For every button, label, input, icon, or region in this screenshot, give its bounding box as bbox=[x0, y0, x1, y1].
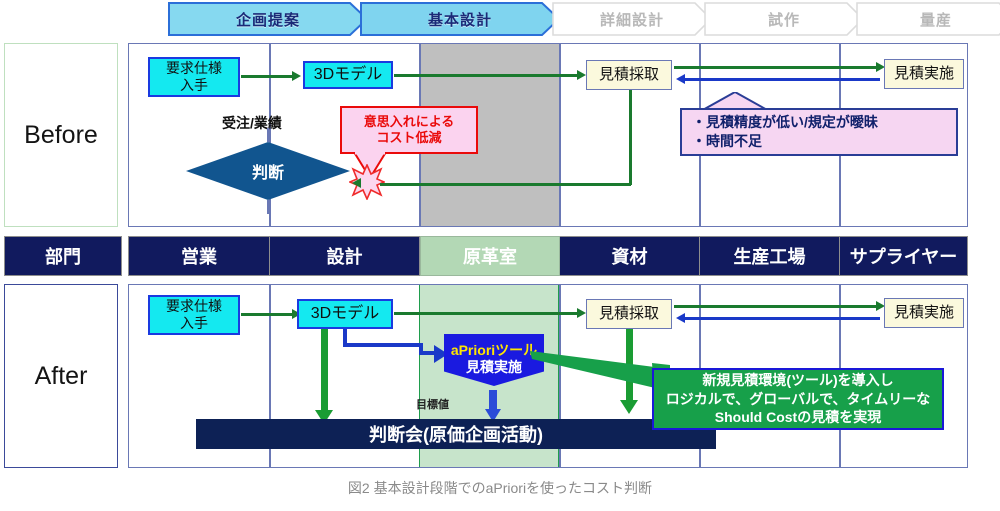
chevron-shape-icon bbox=[856, 2, 1000, 36]
phase-chevron-bar: 企画提案 基本設計 詳細設計 試作 量産 bbox=[168, 2, 968, 36]
after-benefit-line1: 新規見積環境(ツール)を導入し bbox=[702, 371, 893, 390]
chevron-shape-icon bbox=[704, 2, 864, 36]
phase-chevron-kikaku[interactable]: 企画提案 bbox=[168, 2, 368, 36]
after-benefit-line3: Should Costの見積を実現 bbox=[715, 408, 881, 427]
chevron-shape-icon bbox=[360, 2, 560, 36]
department-cell-seisankojo[interactable]: 生産工場 bbox=[700, 236, 840, 276]
before-arrow-quote-down bbox=[629, 89, 632, 185]
before-quote-collect-label: 見積採取 bbox=[599, 66, 659, 84]
after-benefit-line2: ロジカルで、グローバルで、タイムリーな bbox=[666, 390, 930, 409]
before-3d-model-box[interactable]: 3Dモデル bbox=[303, 61, 393, 89]
after-arrow-req-to-model bbox=[241, 313, 294, 316]
after-benefit-callout[interactable]: 新規見積環境(ツール)を導入し ロジカルで、グローバルで、タイムリーな Shou… bbox=[652, 368, 944, 430]
before-row-label: Before bbox=[4, 43, 118, 227]
before-requirements-box[interactable]: 要求仕様 入手 bbox=[148, 57, 240, 97]
diagram-root: 企画提案 基本設計 詳細設計 試作 量産 bbox=[0, 0, 1000, 511]
arrow-head-icon bbox=[676, 74, 685, 84]
before-issue-line1: ・見積精度が低い/規定が曖昧 bbox=[692, 113, 956, 132]
after-arrow-model-to-quote bbox=[394, 312, 580, 315]
after-label-text: After bbox=[35, 362, 88, 391]
before-requirements-line2: 入手 bbox=[180, 77, 208, 94]
department-label: 営業 bbox=[181, 243, 217, 269]
before-order-label: 受注/業績 bbox=[222, 113, 282, 133]
before-arrow-req-to-model bbox=[241, 75, 294, 78]
phase-chevron-kihonsekkei[interactable]: 基本設計 bbox=[360, 2, 560, 36]
chevron-shape-icon bbox=[168, 2, 368, 36]
department-label: 原革室 bbox=[463, 243, 517, 269]
after-requirements-line1: 要求仕様 bbox=[166, 298, 222, 315]
figure-caption: 図2 基本設計段階でのaPrioriを使ったコスト判断 bbox=[0, 478, 1000, 498]
department-cell-genkakushitsu[interactable]: 原革室 bbox=[420, 236, 560, 276]
before-diamond-bottom-connector bbox=[267, 200, 269, 214]
arrow-head-icon bbox=[352, 178, 361, 188]
after-arrow-to-supplier bbox=[674, 305, 880, 308]
before-arrow-model-to-quote bbox=[394, 74, 580, 77]
after-decision-meeting-bar[interactable]: 判断会(原価企画活動) bbox=[196, 419, 716, 449]
phase-chevron-ryousan[interactable]: 量産 bbox=[856, 2, 1000, 36]
before-requirements-line1: 要求仕様 bbox=[166, 60, 222, 77]
chevron-shape-icon bbox=[552, 2, 712, 36]
department-label: 設計 bbox=[327, 243, 363, 269]
arrow-head-icon bbox=[577, 308, 586, 318]
arrow-head-icon bbox=[577, 70, 586, 80]
before-arrow-quote-back bbox=[380, 183, 631, 186]
after-quote-collect-label: 見積採取 bbox=[599, 305, 659, 323]
department-label: サプライヤー bbox=[850, 243, 957, 269]
before-decision-label: 判断 bbox=[252, 159, 284, 183]
after-quote-execute-label: 見積実施 bbox=[894, 304, 954, 322]
phase-chevron-shousaisekkei[interactable]: 詳細設計 bbox=[552, 2, 712, 36]
after-apriori-line2: 見積実施 bbox=[466, 359, 522, 376]
before-arrow-from-supplier bbox=[684, 78, 880, 81]
before-arrow-to-supplier bbox=[674, 66, 880, 69]
before-quote-execute-label: 見積実施 bbox=[894, 65, 954, 83]
before-issue-line2: ・時間不足 bbox=[692, 132, 956, 151]
after-arrow-from-supplier bbox=[684, 317, 880, 320]
before-issues-callout[interactable]: ・見積精度が低い/規定が曖昧 ・時間不足 bbox=[680, 108, 958, 156]
before-3d-model-label: 3Dモデル bbox=[314, 66, 382, 85]
arrow-head-icon bbox=[292, 71, 301, 81]
after-3d-model-box[interactable]: 3Dモデル bbox=[297, 299, 393, 329]
before-diamond-top-connector bbox=[267, 128, 269, 142]
before-quote-collect-box[interactable]: 見積採取 bbox=[586, 60, 672, 90]
after-arrow-to-apriori-h bbox=[343, 343, 423, 347]
department-header-label: 部門 bbox=[45, 243, 81, 269]
after-arrow-model-to-meeting bbox=[321, 329, 328, 413]
after-3d-model-label: 3Dモデル bbox=[311, 305, 379, 324]
after-apriori-line1: aPrioriツール bbox=[451, 342, 537, 359]
department-header-row: 部門 営業 設計 原革室 資材 生産工場 サプライヤー bbox=[4, 236, 968, 276]
after-decision-meeting-label: 判断会(原価企画活動) bbox=[369, 421, 543, 447]
department-label: 生産工場 bbox=[734, 243, 806, 269]
department-cell-sekkei[interactable]: 設計 bbox=[270, 236, 420, 276]
after-quote-collect-box[interactable]: 見積採取 bbox=[586, 299, 672, 329]
before-callout-line2: コスト低減 bbox=[364, 130, 455, 146]
before-callout-line1: 意思入れによる bbox=[364, 114, 455, 130]
department-label: 資材 bbox=[612, 243, 648, 269]
after-requirements-line2: 入手 bbox=[180, 315, 208, 332]
after-quote-execute-box[interactable]: 見積実施 bbox=[884, 298, 964, 328]
department-cell-shizai[interactable]: 資材 bbox=[560, 236, 700, 276]
phase-chevron-shisaku[interactable]: 試作 bbox=[704, 2, 864, 36]
after-target-value-label: 目標値 bbox=[416, 396, 449, 412]
before-cost-reduction-callout[interactable]: 意思入れによる コスト低減 bbox=[340, 106, 478, 154]
department-cell-eigyo[interactable]: 営業 bbox=[128, 236, 270, 276]
before-quote-execute-box[interactable]: 見積実施 bbox=[884, 59, 964, 89]
arrow-head-icon bbox=[676, 313, 685, 323]
after-requirements-box[interactable]: 要求仕様 入手 bbox=[148, 295, 240, 335]
department-cell-supplier[interactable]: サプライヤー bbox=[840, 236, 968, 276]
after-benefit-pointer-icon bbox=[530, 345, 670, 395]
before-label-text: Before bbox=[24, 121, 98, 150]
department-header-bumon: 部門 bbox=[4, 236, 122, 276]
arrow-head-icon bbox=[620, 400, 638, 414]
after-row-label: After bbox=[4, 284, 118, 468]
lane-divider bbox=[559, 44, 561, 226]
